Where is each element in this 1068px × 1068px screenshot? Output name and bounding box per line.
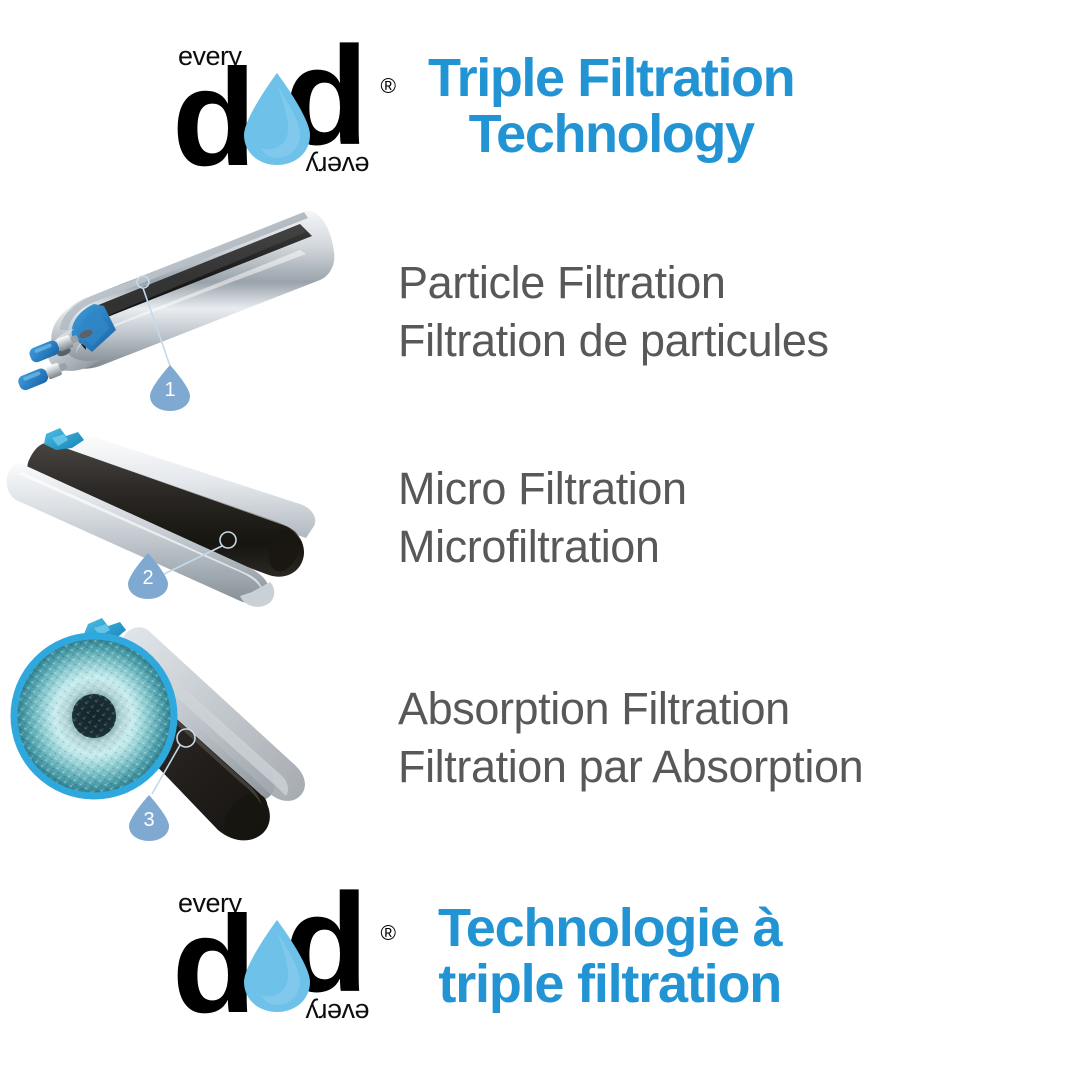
- step-badge-1-number: 1: [164, 379, 175, 412]
- section-1-label-en: Particle Filtration: [398, 254, 1068, 312]
- step-badge-1: 1: [148, 364, 192, 412]
- figure-absorption-filter: 3: [0, 616, 340, 860]
- water-droplet-icon: [240, 71, 314, 167]
- logo-letter-d: d: [172, 59, 250, 177]
- section-micro-filtration: 2 Micro Filtration Microfiltration: [0, 420, 1068, 616]
- section-3-label-en: Absorption Filtration: [398, 680, 1068, 738]
- section-2-labels: Micro Filtration Microfiltration: [398, 460, 1068, 575]
- figure-particle-filter: 1: [0, 206, 340, 418]
- footer: every d p ® every Technologie à triple f…: [0, 866, 1068, 1046]
- figure-micro-filter: 2: [0, 420, 340, 616]
- section-3-label-fr: Filtration par Absorption: [398, 738, 1068, 796]
- registered-trademark-icon: ®: [381, 75, 396, 99]
- logo-letter-d-footer: d: [172, 906, 250, 1024]
- brand-logo-top: every d p ® every: [164, 35, 396, 183]
- infographic-page: every d p ® every Triple Filtration Tech…: [0, 0, 1068, 1068]
- section-2-label-en: Micro Filtration: [398, 460, 1068, 518]
- step-badge-2: 2: [126, 552, 170, 600]
- registered-trademark-icon-footer: ®: [381, 922, 396, 946]
- step-badge-3-number: 3: [143, 809, 154, 842]
- section-absorption-filtration: 3 Absorption Filtration Filtration par A…: [0, 616, 1068, 860]
- section-2-label-fr: Microfiltration: [398, 518, 1068, 576]
- section-particle-filtration: 1 Particle Filtration Filtration de part…: [0, 206, 1068, 418]
- page-title-english: Triple Filtration Technology: [428, 51, 794, 162]
- header: every d p ® every Triple Filtration Tech…: [0, 22, 1068, 192]
- brand-logo-bottom: every d p ® every: [164, 882, 396, 1030]
- section-1-labels: Particle Filtration Filtration de partic…: [398, 254, 1068, 369]
- step-badge-3: 3: [127, 794, 171, 842]
- section-1-label-fr: Filtration de particules: [398, 312, 1068, 370]
- water-droplet-icon-footer: [240, 918, 314, 1014]
- logo-every-bottom-text: every: [306, 150, 370, 181]
- logo-every-bottom-text-footer: every: [306, 997, 370, 1028]
- step-badge-2-number: 2: [142, 567, 153, 600]
- section-3-labels: Absorption Filtration Filtration par Abs…: [398, 680, 1068, 795]
- page-title-french: Technologie à triple filtration: [438, 900, 781, 1012]
